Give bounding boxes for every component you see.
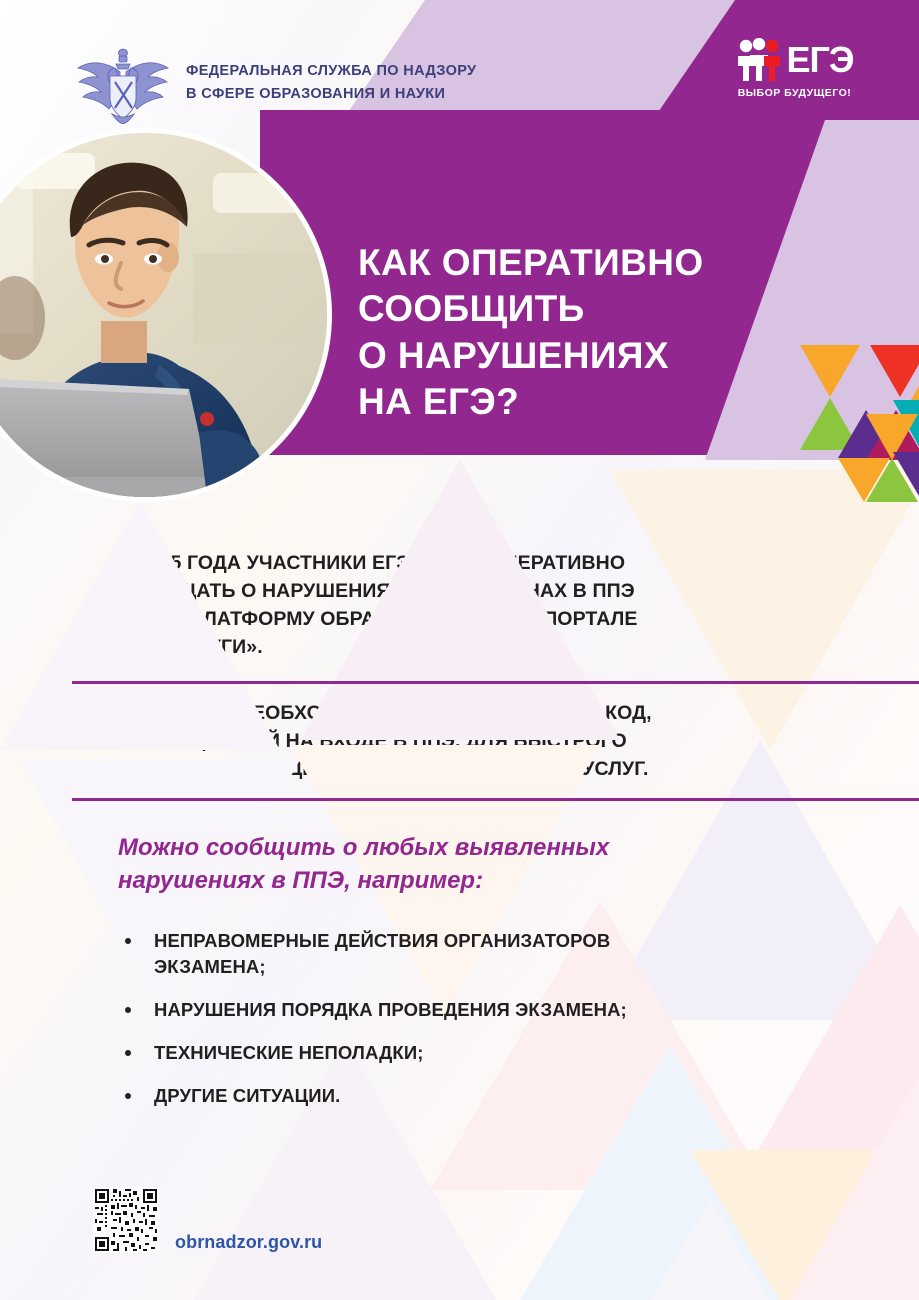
divider-line-bottom xyxy=(72,798,919,801)
watermark-triangle xyxy=(300,460,620,740)
mosaic-triangle-purple-2 xyxy=(893,452,919,496)
list-item: ТЕХНИЧЕСКИЕ НЕПОЛАДКИ; xyxy=(118,1040,778,1066)
examples-lead-in: Можно сообщить о любых выявленных наруше… xyxy=(118,832,778,897)
mosaic-triangle-orange xyxy=(800,345,860,397)
list-item: ДРУГИЕ СИТУАЦИИ. xyxy=(118,1083,778,1109)
watermark-triangle xyxy=(560,1200,860,1300)
page-title: КАК ОПЕРАТИВНО СООБЩИТЬ О НАРУШЕНИЯХ НА … xyxy=(358,240,704,425)
mosaic-triangle-orange-4 xyxy=(838,458,890,502)
ege-word: ЕГЭ xyxy=(786,42,853,78)
list-item: НАРУШЕНИЯ ПОРЯДКА ПРОВЕДЕНИЯ ЭКЗАМЕНА; xyxy=(118,997,778,1023)
org-name: ФЕДЕРАЛЬНАЯ СЛУЖБА ПО НАДЗОРУ В СФЕРЕ ОБ… xyxy=(186,60,476,107)
rosobrnadzor-eagle-emblem xyxy=(74,46,172,124)
ege-logo: ЕГЭ ВЫБОР БУДУЩЕГО! xyxy=(727,38,862,99)
ege-people-logo xyxy=(735,38,783,82)
list-item: НЕПРАВОМЕРНЫЕ ДЕЙСТВИЯ ОРГАНИЗАТОРОВ ЭКЗ… xyxy=(118,928,778,980)
watermark-triangle xyxy=(0,500,280,750)
watermark-triangle xyxy=(610,470,919,750)
poster-root: ФЕДЕРАЛЬНАЯ СЛУЖБА ПО НАДЗОРУ В СФЕРЕ ОБ… xyxy=(0,0,919,1300)
qr-code[interactable] xyxy=(93,1187,159,1253)
ege-tagline: ВЫБОР БУДУЩЕГО! xyxy=(727,87,862,99)
website-link[interactable]: obrnadzor.gov.ru xyxy=(175,1232,322,1253)
violation-examples-list: НЕПРАВОМЕРНЫЕ ДЕЙСТВИЯ ОРГАНИЗАТОРОВ ЭКЗ… xyxy=(118,928,778,1125)
divider-line-top xyxy=(72,681,919,684)
